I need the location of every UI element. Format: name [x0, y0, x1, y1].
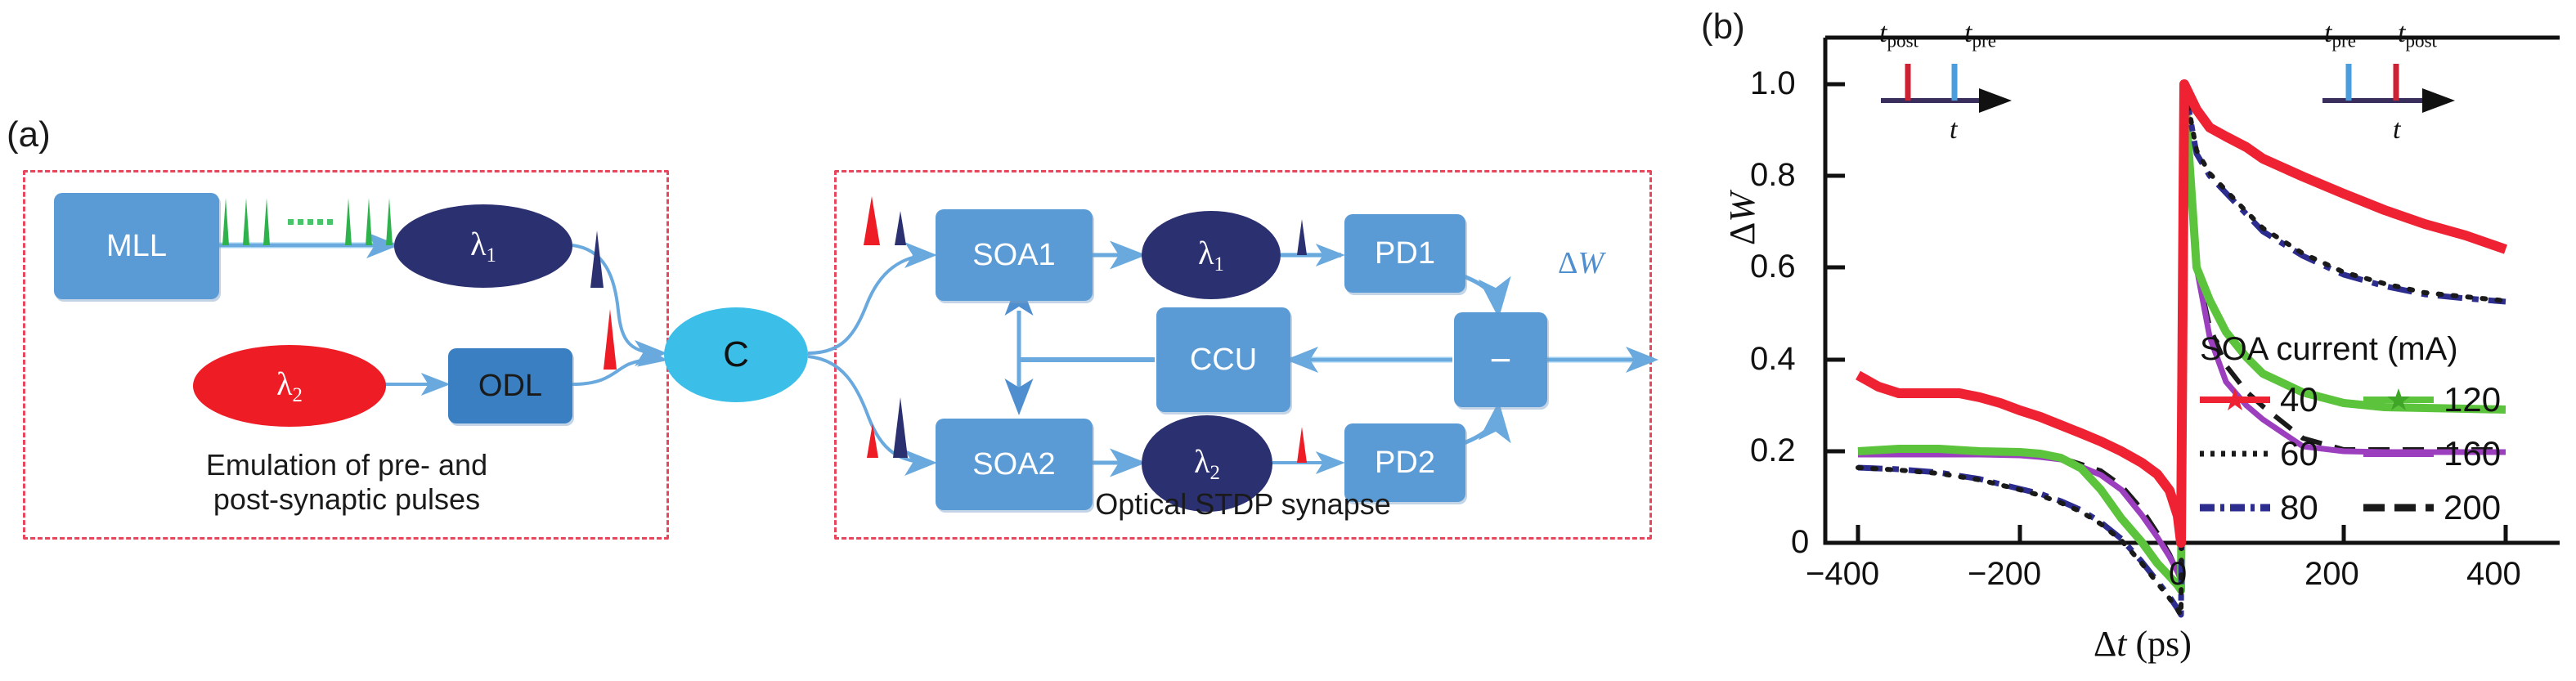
legend-label-60: 60: [2280, 434, 2318, 473]
legend-item-120[interactable]: 120: [2363, 374, 2535, 425]
block-pd2-label: PD2: [1375, 446, 1435, 481]
legend-swatch-60: [2200, 441, 2270, 466]
chart-legend: SOA current (mA) 40 120: [2200, 331, 2551, 533]
group-caption-emulation-line1: Emulation of pre- and: [39, 448, 654, 482]
inset-left-label-tpost: tpost: [1879, 18, 1919, 52]
legend-title: SOA current (mA): [2200, 331, 2551, 368]
ellipse-lambda1-right[interactable]: λ1: [1142, 211, 1281, 299]
ellipse-lambda2-label: λ2: [276, 365, 303, 407]
block-odl-label: ODL: [478, 369, 542, 404]
ytick-label-1p0: 1.0: [1750, 65, 1796, 102]
xtick-label-200: 200: [2304, 556, 2359, 593]
ytick-label-0p6: 0.6: [1750, 249, 1796, 285]
xtick-label-m200: −200: [1968, 556, 2041, 593]
block-soa1-label: SOA1: [972, 238, 1055, 273]
block-ccu-label: CCU: [1190, 343, 1257, 378]
inset-left-timeline: [1881, 64, 2012, 113]
inset-right-label-tpre: tpre: [2324, 18, 2356, 52]
figure-root: (a) (b): [0, 0, 2576, 681]
block-mll[interactable]: MLL: [54, 193, 219, 299]
legend-label-40: 40: [2280, 380, 2318, 419]
inset-left-axis-label: t: [1950, 114, 1957, 146]
group-caption-emulation-line2: post-synaptic pulses: [39, 482, 654, 517]
block-odl[interactable]: ODL: [448, 348, 572, 423]
legend-label-200: 200: [2444, 488, 2501, 527]
ytick-label-0p8: 0.8: [1750, 157, 1796, 194]
block-soa1[interactable]: SOA1: [936, 209, 1093, 301]
block-subtract[interactable]: −: [1454, 312, 1547, 407]
ytick-label-0p2: 0.2: [1750, 432, 1796, 469]
chart-xlabel: Δt (ps): [2094, 623, 2192, 665]
legend-label-80: 80: [2280, 488, 2318, 527]
legend-item-200[interactable]: 200: [2363, 482, 2535, 533]
legend-item-160[interactable]: 160: [2363, 428, 2535, 479]
legend-label-120: 120: [2444, 380, 2501, 419]
xtick-label-400: 400: [2466, 556, 2521, 593]
block-soa2-label: SOA2: [972, 447, 1055, 482]
group-caption-stdp: Optical STDP synapse: [850, 487, 1636, 522]
block-mll-label: MLL: [106, 229, 167, 264]
ellipse-lambda2-right-label: λ2: [1194, 442, 1220, 485]
legend-swatch-40: [2200, 388, 2270, 412]
inset-right-timeline: [2322, 64, 2455, 113]
xtick-label-m400: −400: [1806, 556, 1879, 593]
block-pd1-label: PD1: [1375, 236, 1435, 271]
legend-swatch-120: [2363, 388, 2434, 412]
ellipse-coupler[interactable]: C: [664, 307, 808, 402]
panel-a-label: (a): [7, 114, 51, 155]
legend-item-40[interactable]: 40: [2200, 374, 2363, 425]
group-caption-emulation: Emulation of pre- and post-synaptic puls…: [39, 448, 654, 517]
block-ccu[interactable]: CCU: [1156, 307, 1290, 412]
output-delta-w-label: ΔW: [1558, 245, 1604, 281]
inset-right-axis-label: t: [2393, 114, 2400, 146]
legend-swatch-160: [2363, 441, 2434, 466]
ellipse-coupler-label: C: [723, 334, 749, 375]
panel-b-label: (b): [1701, 7, 1745, 47]
legend-swatch-80: [2200, 495, 2270, 520]
ytick-label-0p4: 0.4: [1750, 341, 1796, 378]
ellipse-lambda2[interactable]: λ2: [193, 345, 386, 427]
chart-ylabel: ΔW: [1721, 192, 1763, 245]
block-pd1[interactable]: PD1: [1344, 214, 1465, 293]
xtick-label-0: 0: [2169, 556, 2187, 593]
legend-item-80[interactable]: 80: [2200, 482, 2363, 533]
inset-right-label-tpost: tpost: [2398, 18, 2437, 52]
ellipse-lambda1-right-label: λ1: [1198, 234, 1224, 276]
block-subtract-label: −: [1490, 338, 1512, 382]
ellipse-lambda1[interactable]: λ1: [394, 204, 572, 288]
legend-label-160: 160: [2444, 434, 2501, 473]
group-caption-stdp-line1: Optical STDP synapse: [850, 487, 1636, 522]
legend-swatch-200: [2363, 495, 2434, 520]
inset-left-label-tpre: tpre: [1964, 18, 1996, 52]
ellipse-lambda1-label: λ1: [470, 225, 496, 267]
legend-item-60[interactable]: 60: [2200, 428, 2363, 479]
